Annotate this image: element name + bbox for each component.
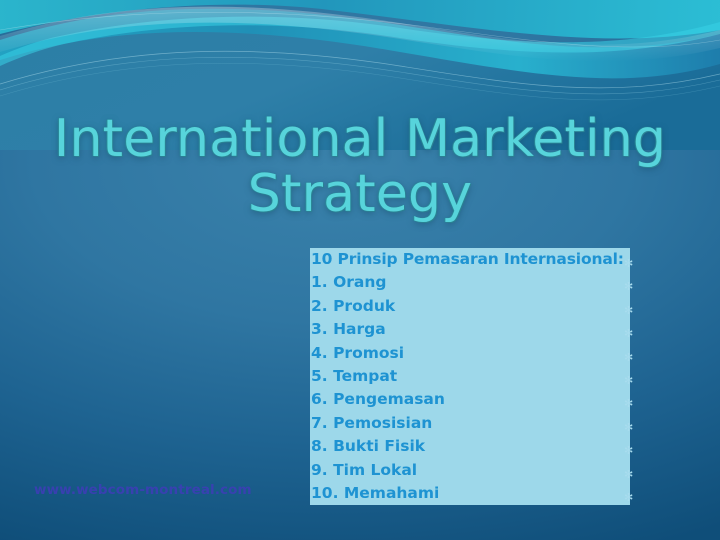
list-item: 1. Orang (310, 271, 630, 294)
title-line-1: International Marketing (30, 112, 690, 167)
list-item: 3. Harga (310, 318, 630, 341)
list-item: 4. Promosi (310, 342, 630, 365)
list-item: 10. Memahami (310, 482, 630, 505)
title-line-2: Strategy (30, 167, 690, 222)
list-item: 9. Tim Lokal (310, 459, 630, 482)
content-text-box: 10 Prinsip Pemasaran Internasional: 1. O… (310, 248, 630, 505)
list-item: 8. Bukti Fisik (310, 435, 630, 458)
list-item: 5. Tempat (310, 365, 630, 388)
list-item: 6. Pengemasan (310, 388, 630, 411)
footer-url-label: www.webcom-montreal.com (34, 482, 252, 498)
principles-list: 10 Prinsip Pemasaran Internasional: 1. O… (310, 248, 630, 505)
slide-canvas: International Marketing Strategy 10 Prin… (0, 0, 720, 540)
page-title: International Marketing Strategy (30, 112, 690, 221)
list-item: 7. Pemosisian (310, 412, 630, 435)
list-item: 2. Produk (310, 295, 630, 318)
list-heading: 10 Prinsip Pemasaran Internasional: (310, 248, 630, 271)
